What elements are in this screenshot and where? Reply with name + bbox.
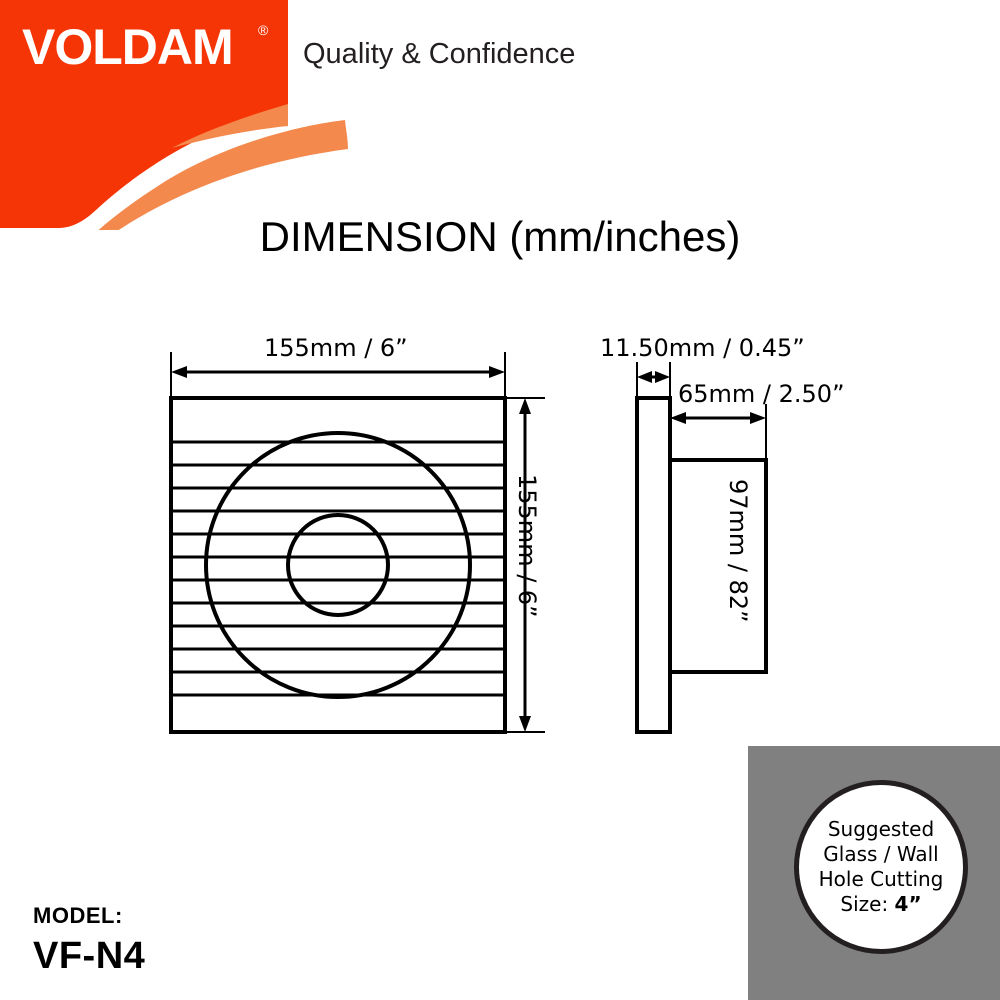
model-label: MODEL: [33,903,145,929]
hole-cutting-circle: Suggested Glass / Wall Hole Cutting Size… [794,780,968,954]
side-thickness-dimension [637,362,670,400]
callout-line-2: Glass / Wall [823,842,938,867]
side-view-faceplate [637,398,670,732]
callout-size-prefix: Size: [840,892,894,916]
callout-size-value: 4” [895,892,922,916]
side-thickness-label: 11.50mm / 0.45” [600,334,805,362]
front-view-louvers [171,442,505,695]
side-body-height-label: 97mm / 82” [724,479,752,623]
front-width-label: 155mm / 6” [264,334,408,362]
front-view-grille [171,398,505,732]
front-view-outline [171,398,505,732]
model-value: VF-N4 [33,935,145,978]
front-view-inner-circle [288,515,388,615]
side-depth-label: 65mm / 2.50” [678,380,845,408]
front-view-outer-circle [206,433,470,697]
hole-cutting-callout: Suggested Glass / Wall Hole Cutting Size… [748,746,1000,1000]
callout-line-3: Hole Cutting [819,867,944,892]
side-depth-dimension [670,404,766,462]
model-block: MODEL: VF-N4 [33,903,145,978]
callout-line-1: Suggested [828,817,934,842]
front-height-label: 155mm / 6” [513,474,541,618]
callout-size-line: Size: 4” [840,892,921,917]
